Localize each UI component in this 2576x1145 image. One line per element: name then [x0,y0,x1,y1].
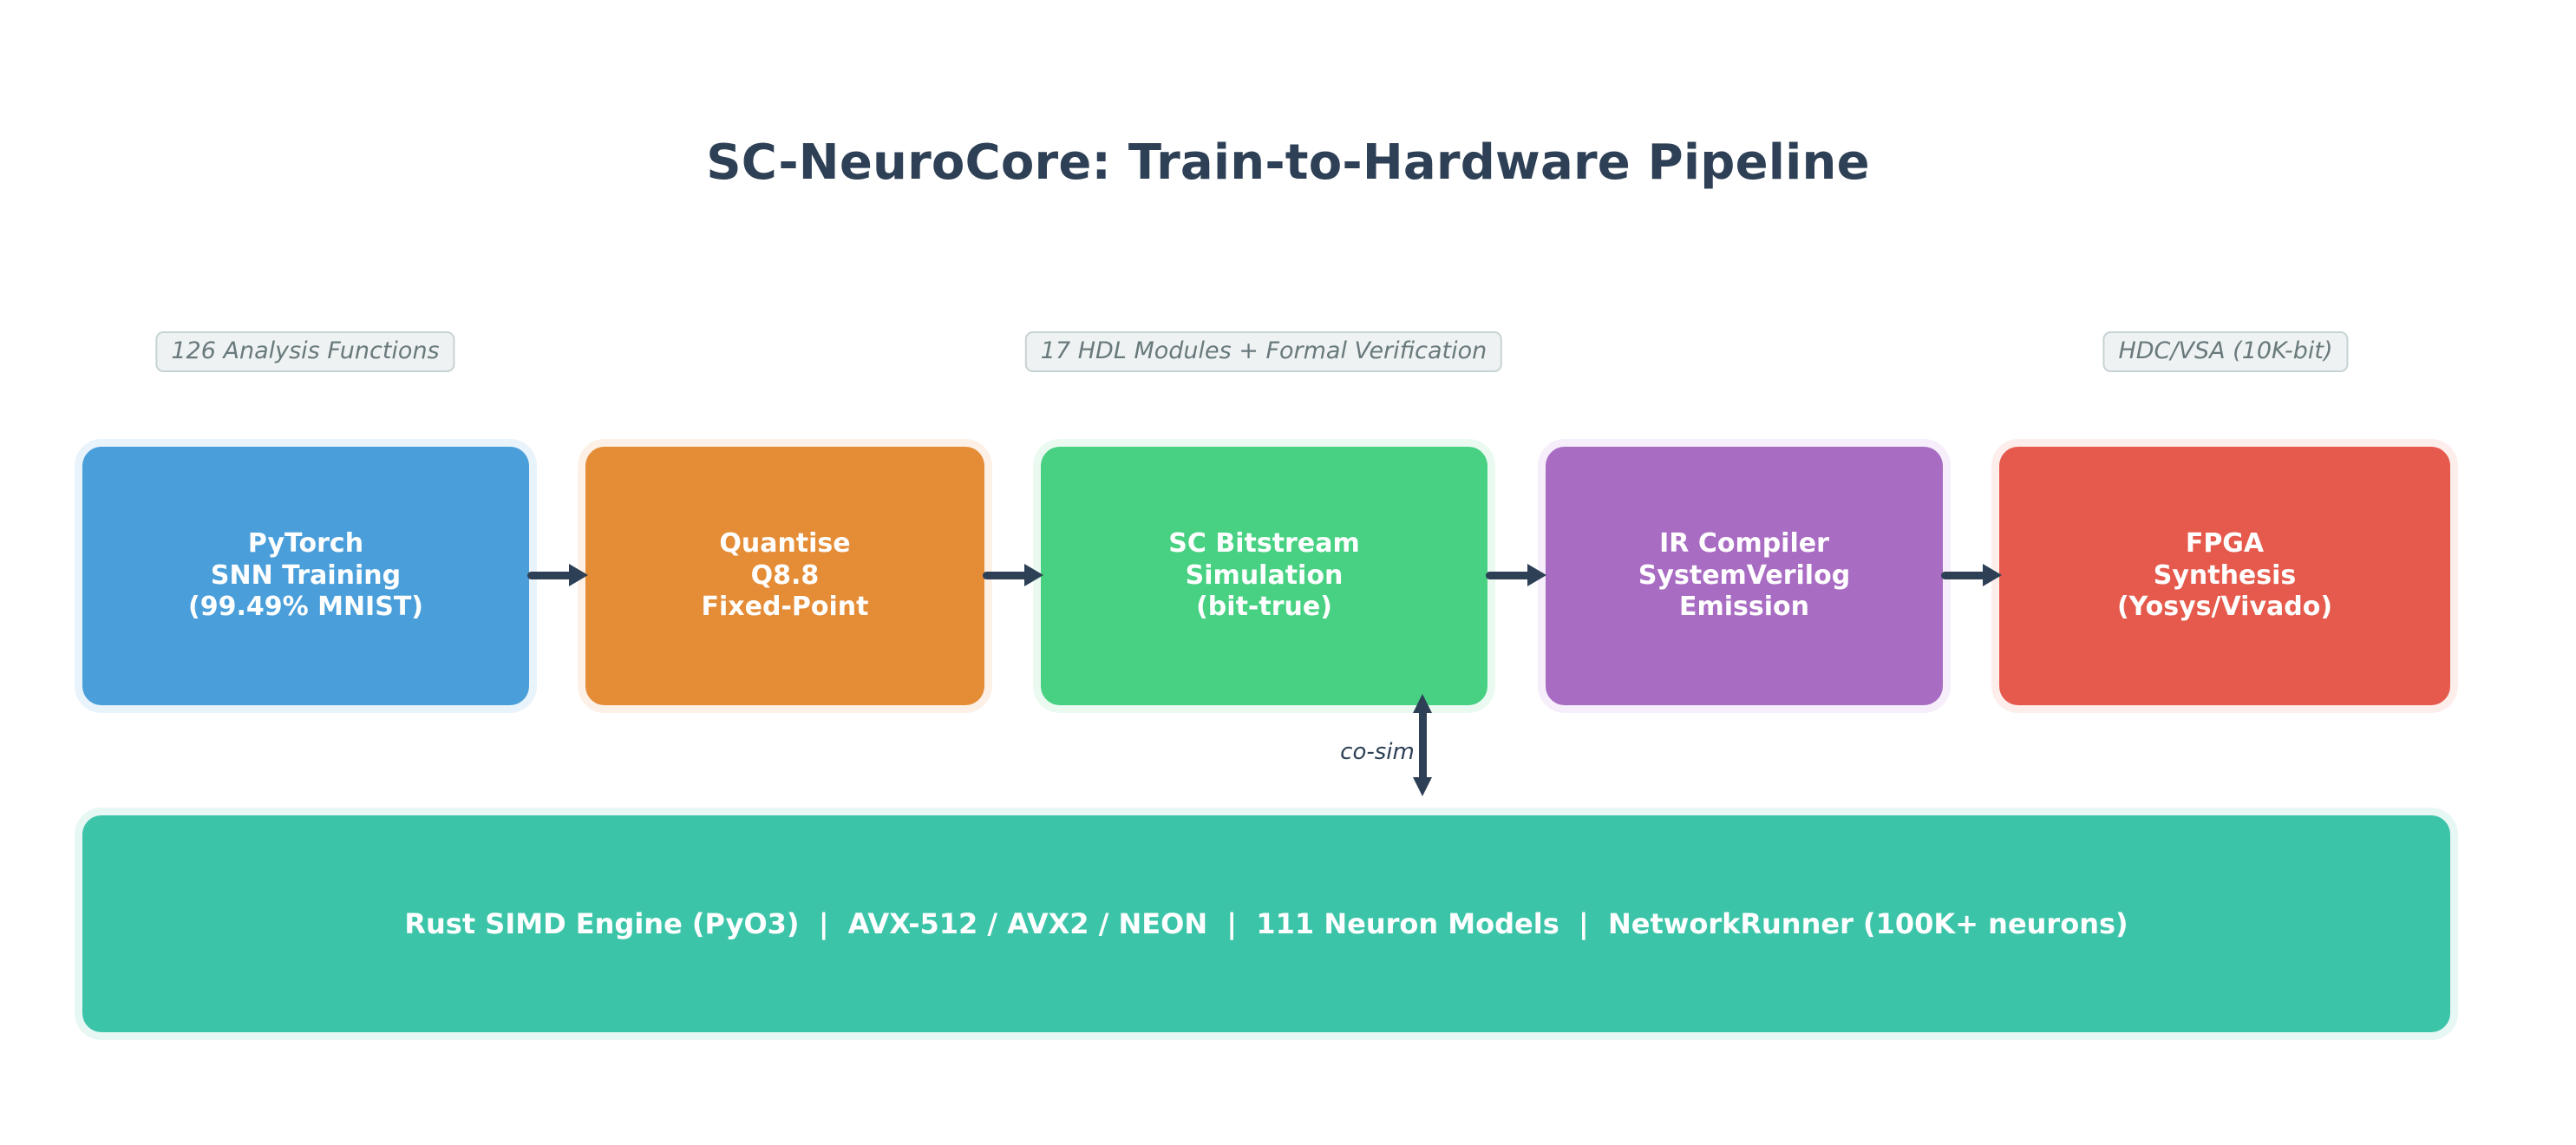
arrow-head [569,564,588,586]
arrow-shaft [983,572,1028,579]
stage-label: IR Compiler SystemVerilog Emission [1638,528,1850,624]
arrow-head-down [1413,777,1432,796]
arrow-shaft [1486,572,1531,579]
arrow-head [1024,564,1043,586]
page-title: SC-NeuroCore: Train-to-Hardware Pipeline [0,134,2576,191]
stage-label: Quantise Q8.8 Fixed-Point [702,528,869,624]
stage-box-pytorch-snn-training[interactable]: PyTorch SNN Training (99.49% MNIST) [82,447,529,705]
stage-label: FPGA Synthesis (Yosys/Vivado) [2117,528,2332,624]
stage-label: PyTorch SNN Training (99.49% MNIST) [188,528,423,624]
stage-box-ir-compiler-systemverilog[interactable]: IR Compiler SystemVerilog Emission [1546,447,1943,705]
cosim-bidirectional-arrow-icon [1413,694,1432,796]
annotation-pill-hdc-vsa: HDC/VSA (10K-bit) [2102,331,2348,372]
foundation-bar-rust-simd-engine[interactable]: Rust SIMD Engine (PyO3) | AVX-512 / AVX2… [82,815,2450,1032]
stage-label: SC Bitstream Simulation (bit-true) [1168,528,1359,624]
flow-arrow-icon-1 [527,568,588,582]
flow-arrow-icon-4 [1941,568,2002,582]
flow-arrow-icon-3 [1486,568,1546,582]
arrow-shaft [1941,572,1986,579]
cosim-label: co-sim [1340,739,1415,765]
flow-arrow-icon-2 [983,568,1043,582]
foundation-bar-text: Rust SIMD Engine (PyO3) | AVX-512 / AVX2… [404,907,2128,940]
annotation-pill-analysis-functions: 126 Analysis Functions [155,331,454,372]
arrow-head [1983,564,2002,586]
arrow-shaft-vertical [1419,708,1427,784]
arrow-head [1527,564,1546,586]
arrow-shaft [527,572,572,579]
stage-box-fpga-synthesis[interactable]: FPGA Synthesis (Yosys/Vivado) [1999,447,2450,705]
stage-box-sc-bitstream-simulation[interactable]: SC Bitstream Simulation (bit-true) [1041,447,1487,705]
stage-box-quantise-fixed-point[interactable]: Quantise Q8.8 Fixed-Point [585,447,984,705]
annotation-pill-hdl-modules: 17 HDL Modules + Formal Verification [1025,331,1502,372]
